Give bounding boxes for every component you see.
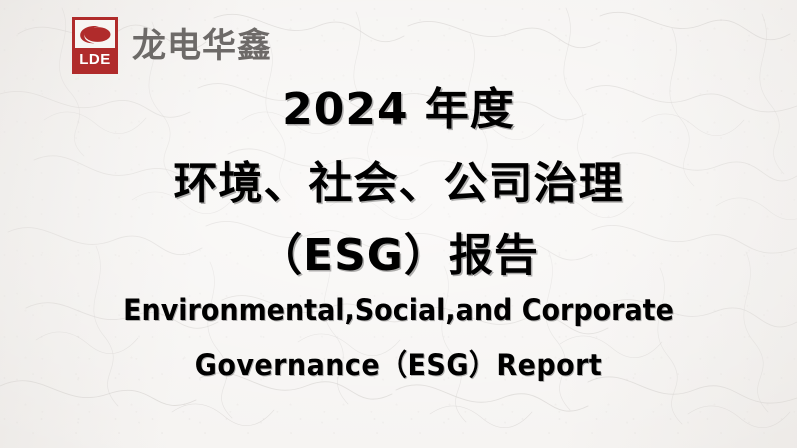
company-name-text: 龙电华鑫 [132, 29, 272, 63]
subtitle-line-1: Environmental,Social,and Corporate [28, 296, 769, 325]
logo-wordmark-band: LDE [75, 48, 115, 71]
title-line-report-chinese: （ESG）报告 [0, 234, 797, 278]
title-stack: 2024 年度 环境、社会、公司治理 （ESG）报告 Environmental… [0, 88, 797, 380]
title-line-esg-chinese: 环境、社会、公司治理 [0, 162, 797, 206]
logo-crescent-shape-icon [75, 20, 115, 48]
subtitle-line-2: Governance（ESG）Report [28, 351, 769, 380]
esg-report-cover-slide: LDE 龙电华鑫 2024 年度 环境、社会、公司治理 （ESG）报告 Envi… [0, 0, 797, 448]
lde-logo-icon: LDE [72, 17, 118, 74]
logo-lde-text: LDE [79, 52, 111, 68]
company-logo-block: LDE 龙电华鑫 [72, 17, 272, 74]
logo-swoosh-icon [75, 20, 115, 48]
title-line-year: 2024 年度 [0, 88, 797, 132]
